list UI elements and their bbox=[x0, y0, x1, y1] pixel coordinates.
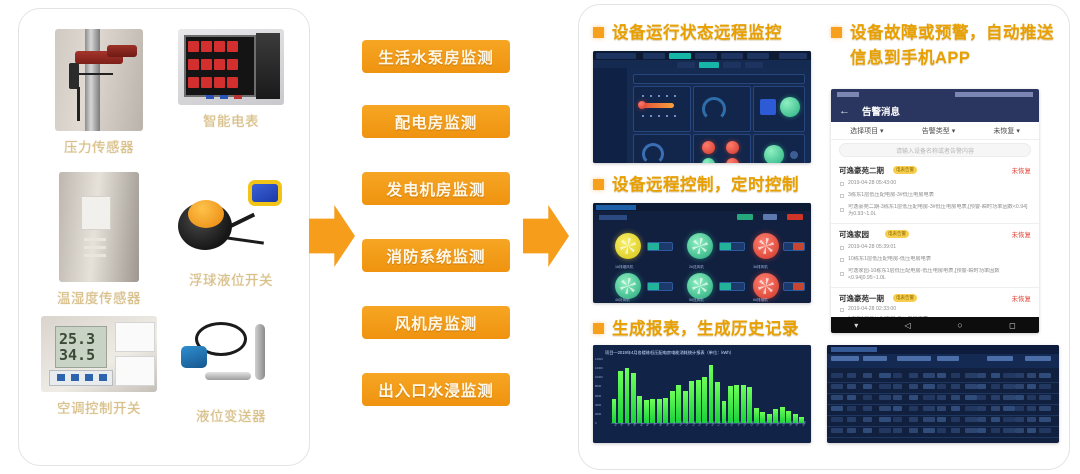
table-cell bbox=[847, 373, 856, 378]
arrow-left-icon[interactable]: ← bbox=[839, 105, 850, 117]
table-cell bbox=[863, 384, 872, 389]
chart-y-tick: 6000 bbox=[595, 394, 601, 398]
table-cell bbox=[977, 428, 986, 433]
device-label-1: 2#送风机 bbox=[689, 265, 704, 270]
table-cell bbox=[1039, 428, 1051, 433]
device-label-2: 3#排风机 bbox=[753, 265, 768, 270]
table-cell bbox=[977, 395, 986, 400]
table-cell bbox=[923, 428, 935, 433]
device-switch-2[interactable] bbox=[783, 242, 805, 251]
device-label-4: 5#送风机 bbox=[689, 298, 704, 303]
phone-nav-bar: ▾ ◁ ○ ◻ bbox=[831, 317, 1039, 333]
table-cell bbox=[863, 417, 872, 422]
dashboard-main bbox=[627, 68, 811, 163]
table-cell bbox=[951, 373, 960, 378]
table-cell bbox=[965, 384, 977, 389]
table-cell bbox=[909, 384, 918, 389]
table-cell bbox=[863, 406, 872, 411]
chart-bar bbox=[747, 387, 752, 423]
chart-title: 项目—2019年4月各楼栋低压配电房电能消耗统计报表（单位：kWh） bbox=[605, 350, 734, 356]
device-icon-1[interactable] bbox=[687, 233, 713, 259]
table-cell bbox=[965, 428, 977, 433]
features-panel: 设备运行状态远程监控 设备故障或预警，自动推送信息到手机APP 设备远程控制，定… bbox=[578, 4, 1070, 470]
device-switch-4[interactable] bbox=[719, 282, 745, 291]
table-cell bbox=[951, 384, 960, 389]
dashboard-sidebar[interactable] bbox=[593, 68, 627, 163]
scenario-tag-4[interactable]: 风机房监测 bbox=[362, 306, 510, 339]
bullet-square-icon bbox=[593, 27, 604, 38]
alarm-tag: 电表告警 bbox=[893, 166, 917, 174]
nav-tab-1-active[interactable] bbox=[669, 53, 691, 59]
table-cell bbox=[1015, 406, 1024, 411]
card-temperature bbox=[633, 134, 691, 163]
chart-plot-area bbox=[611, 359, 805, 423]
table-cell bbox=[831, 373, 843, 378]
sensor-grid: 压力传感器 智能电表 bbox=[33, 23, 297, 453]
ac-control-switch-photo: 25.3 34.5 bbox=[41, 316, 157, 392]
card-valve-status bbox=[753, 134, 805, 163]
chart-y-tick: 0 bbox=[595, 421, 597, 425]
table-cell bbox=[847, 428, 856, 433]
table-cell bbox=[991, 417, 1000, 422]
nav-tab-4[interactable] bbox=[747, 53, 769, 59]
table-cell bbox=[937, 373, 946, 378]
feature-heading-text: 设备远程控制，定时控制 bbox=[612, 173, 799, 198]
alarm-detail: 可逸豪苑二期-3栋东1层低压配电房-3#低压电房电表,[预警-瞬时功率因数<0.… bbox=[848, 204, 1031, 218]
alarm-project: 可逸豪苑一期 bbox=[839, 293, 884, 304]
temperature-humidity-sensor-photo bbox=[59, 172, 139, 282]
table-cell bbox=[879, 384, 891, 389]
table-cell bbox=[863, 373, 872, 378]
legend-fault bbox=[787, 214, 803, 220]
alarm-detail: 可逸家园-10栋东1层低压配电房-低压电房电表,[预警-瞬时功率因数<0.94]… bbox=[848, 268, 1031, 282]
table-cell bbox=[909, 406, 918, 411]
alarm-time: 2019-04-28 02:33:00 bbox=[848, 306, 1031, 313]
device-switch-0[interactable] bbox=[647, 242, 673, 251]
table-cell bbox=[991, 373, 1000, 378]
chart-bar bbox=[676, 385, 681, 423]
chart-bar bbox=[728, 386, 733, 423]
dashboard-screenshot[interactable] bbox=[593, 51, 811, 163]
table-cell bbox=[893, 384, 902, 389]
table-cell bbox=[991, 406, 1000, 411]
home-circle-icon[interactable]: ○ bbox=[957, 320, 962, 330]
alarm-project: 可逸家园 bbox=[839, 229, 869, 240]
feature-heading-report: 生成报表，生成历史记录 bbox=[593, 317, 825, 342]
chart-bar bbox=[612, 399, 617, 423]
sensor-item-smart-meter[interactable]: 智能电表 bbox=[165, 23, 297, 166]
feature-heading-alarm: 设备故障或预警，自动推送信息到手机APP bbox=[831, 21, 1059, 71]
table-cell bbox=[951, 395, 960, 400]
feature-heading-text: 生成报表，生成历史记录 bbox=[612, 317, 799, 342]
right-arrow bbox=[523, 205, 569, 267]
table-row[interactable] bbox=[827, 426, 1059, 438]
device-label-5: 6#排烟机 bbox=[753, 298, 768, 303]
chart-y-tick: 14000 bbox=[595, 357, 603, 361]
chart-bar bbox=[683, 391, 688, 423]
sensor-item-ac-switch[interactable]: 25.3 34.5 空调控制开关 bbox=[33, 310, 165, 453]
table-cell bbox=[1003, 384, 1015, 389]
recents-square-icon[interactable]: ◻ bbox=[1009, 321, 1016, 330]
search-input[interactable]: 请输入设备名称或者告警内容 bbox=[839, 143, 1031, 157]
alarm-device: 3栋东1层低压配电房-3#低压电房电表 bbox=[848, 192, 1031, 199]
table-cell bbox=[847, 406, 856, 411]
alarm-state: 未恢复 bbox=[1012, 229, 1032, 239]
chart-bar bbox=[715, 382, 720, 423]
chart-bar bbox=[663, 398, 668, 423]
table-cell bbox=[879, 373, 891, 378]
table-cell bbox=[831, 428, 843, 433]
table-cell bbox=[1003, 406, 1015, 411]
sensor-panel: 压力传感器 智能电表 bbox=[18, 8, 310, 466]
table-cell bbox=[991, 384, 1000, 389]
monitoring-scenarios-column: 生活水泵房监测 配电房监测 发电机房监测 消防系统监测 风机房监测 出入口水浸监… bbox=[362, 0, 514, 474]
device-label-0: 1#排烟风机 bbox=[615, 265, 633, 270]
card-water-level bbox=[693, 86, 751, 132]
scenario-tag-1[interactable]: 配电房监测 bbox=[362, 105, 510, 138]
bullet-square-icon bbox=[831, 27, 842, 38]
nav-user[interactable] bbox=[779, 53, 807, 59]
table-cell bbox=[893, 428, 902, 433]
nav-tab-3[interactable] bbox=[721, 53, 743, 59]
table-cell bbox=[847, 384, 856, 389]
table-cell bbox=[1027, 417, 1036, 422]
table-cell bbox=[831, 406, 843, 411]
chart-bar bbox=[631, 373, 636, 423]
device-switch-5[interactable] bbox=[783, 282, 805, 291]
phone-title: 告警消息 bbox=[862, 104, 900, 118]
feature-heading-monitor: 设备运行状态远程监控 bbox=[593, 21, 823, 46]
alarm-time: 2019-04-28 05:39:01 bbox=[848, 244, 1031, 251]
table-cell bbox=[1027, 406, 1036, 411]
table-cell bbox=[879, 428, 891, 433]
table-cell bbox=[1027, 384, 1036, 389]
table-cell bbox=[1039, 395, 1051, 400]
chart-y-tick: 4000 bbox=[595, 403, 601, 407]
card-pump-status bbox=[693, 134, 751, 163]
device-switch-1[interactable] bbox=[719, 242, 745, 251]
table-cell bbox=[977, 417, 986, 422]
table-cell bbox=[1003, 417, 1015, 422]
table-cell bbox=[1015, 417, 1024, 422]
chart-y-tick: 2000 bbox=[595, 412, 601, 416]
table-cell bbox=[1039, 373, 1051, 378]
table-cell bbox=[923, 417, 935, 422]
table-cell bbox=[831, 395, 843, 400]
table-cell bbox=[951, 406, 960, 411]
table-cell bbox=[831, 384, 843, 389]
table-cell bbox=[937, 417, 946, 422]
chart-bar bbox=[625, 368, 630, 423]
device-label-3: 4#补风机 bbox=[615, 298, 630, 303]
alarm-state: 未恢复 bbox=[1012, 293, 1032, 303]
sensor-label: 浮球液位开关 bbox=[189, 269, 273, 289]
table-cell bbox=[847, 417, 856, 422]
card-water-pressure bbox=[633, 86, 691, 132]
table-cell bbox=[1015, 373, 1024, 378]
feature-heading-text: 设备故障或预警，自动推送信息到手机APP bbox=[850, 21, 1059, 71]
filter-alarm-type[interactable]: 告警类型 ▾ bbox=[922, 126, 955, 136]
sensor-item-pressure[interactable]: 压力传感器 bbox=[33, 23, 165, 166]
history-table-screenshot[interactable] bbox=[827, 345, 1059, 443]
table-window-title bbox=[831, 347, 877, 352]
table-cell bbox=[1039, 384, 1051, 389]
table-cell bbox=[1003, 428, 1015, 433]
report-chart-screenshot[interactable]: 项目—2019年4月各楼栋低压配电房电能消耗统计报表（单位：kWh） 02000… bbox=[593, 345, 811, 443]
table-cell bbox=[977, 384, 986, 389]
device-icon-0[interactable] bbox=[615, 233, 641, 259]
table-cell bbox=[951, 417, 960, 422]
remote-control-screenshot[interactable]: 1#排烟风机 2#送风机 3#排风机 4#补风机 5#送风机 6#排烟机 bbox=[593, 203, 811, 303]
table-cell bbox=[937, 428, 946, 433]
filter-status[interactable]: 未恢复 ▾ bbox=[993, 126, 1019, 136]
chart-bar bbox=[734, 385, 739, 423]
feature-heading-text: 设备运行状态远程监控 bbox=[612, 21, 782, 46]
table-cell bbox=[977, 406, 986, 411]
alarm-state: 未恢复 bbox=[1012, 165, 1032, 175]
sensor-label: 温湿度传感器 bbox=[57, 287, 141, 307]
chart-bar bbox=[644, 400, 649, 423]
chart-bar bbox=[670, 391, 675, 423]
card-power bbox=[753, 86, 805, 132]
table-cell bbox=[965, 417, 977, 422]
table-cell bbox=[937, 395, 946, 400]
level-transmitter-photo bbox=[175, 316, 287, 400]
phone-app-bar: ← 告警消息 bbox=[831, 100, 1039, 122]
arrow-right-icon bbox=[309, 205, 355, 267]
table-cell bbox=[1003, 395, 1015, 400]
left-arrow bbox=[309, 205, 355, 267]
scenario-tag-3[interactable]: 消防系统监测 bbox=[362, 239, 510, 272]
sensor-item-float-switch[interactable]: 浮球液位开关 bbox=[165, 166, 297, 309]
table-cell bbox=[937, 406, 946, 411]
table-cell bbox=[909, 373, 918, 378]
alarm-time: 2019-04-28 05:43:00 bbox=[848, 180, 1031, 187]
alarm-tag: 电表告警 bbox=[893, 294, 917, 302]
table-cell bbox=[893, 417, 902, 422]
sensor-item-temp-humidity[interactable]: 温湿度传感器 bbox=[33, 166, 165, 309]
table-cell bbox=[1015, 395, 1024, 400]
table-cell bbox=[1027, 395, 1036, 400]
bullet-square-icon bbox=[593, 179, 604, 190]
filter-project[interactable]: 选择项目 ▾ bbox=[850, 126, 883, 136]
chart-y-tick: 10000 bbox=[595, 375, 603, 379]
table-cell bbox=[909, 395, 918, 400]
table-cell bbox=[1027, 373, 1036, 378]
sensor-label: 液位变送器 bbox=[196, 405, 266, 425]
table-cell bbox=[1039, 417, 1051, 422]
feature-heading-control: 设备远程控制，定时控制 bbox=[593, 173, 825, 198]
device-icon-5[interactable] bbox=[753, 273, 779, 299]
table-cell bbox=[977, 373, 986, 378]
table-cell bbox=[847, 395, 856, 400]
table-cell bbox=[965, 395, 977, 400]
table-cell bbox=[991, 395, 1000, 400]
legend-running bbox=[737, 214, 753, 220]
scenario-tag-0[interactable]: 生活水泵房监测 bbox=[362, 40, 510, 73]
phone-filter-bar: 选择项目 ▾ 告警类型 ▾ 未恢复 ▾ bbox=[831, 122, 1039, 140]
table-cell bbox=[1039, 406, 1051, 411]
nav-tab-0[interactable] bbox=[643, 53, 665, 59]
pressure-sensor-photo bbox=[55, 29, 143, 131]
chart-bar bbox=[702, 377, 707, 423]
device-icon-4[interactable] bbox=[687, 273, 713, 299]
chart-bar bbox=[689, 381, 694, 424]
sensor-item-level-transmitter[interactable]: 液位变送器 bbox=[165, 310, 297, 453]
table-cell bbox=[951, 428, 960, 433]
table-cell bbox=[923, 384, 935, 389]
table-cell bbox=[923, 406, 935, 411]
table-cell bbox=[965, 373, 977, 378]
chart-bar bbox=[618, 371, 623, 423]
table-cell bbox=[863, 395, 872, 400]
device-switch-3[interactable] bbox=[647, 282, 673, 291]
alarm-project: 可逸豪苑二期 bbox=[839, 165, 884, 176]
table-cell bbox=[923, 395, 935, 400]
chart-bar bbox=[741, 385, 746, 423]
chart-bar bbox=[709, 365, 714, 423]
device-icon-3[interactable] bbox=[615, 273, 641, 299]
alarm-device: 10栋东1层低压配电房-低压电房电表 bbox=[848, 256, 1031, 263]
float-level-switch-photo bbox=[172, 172, 290, 264]
chart-bar bbox=[650, 399, 655, 423]
arrow-right-icon bbox=[523, 205, 569, 267]
chart-bar bbox=[696, 380, 701, 423]
table-cell bbox=[1027, 428, 1036, 433]
table-cell bbox=[909, 428, 918, 433]
chart-bar bbox=[657, 399, 662, 423]
sensor-label: 空调控制开关 bbox=[57, 397, 141, 417]
chart-y-tick: 12000 bbox=[595, 366, 603, 370]
table-cell bbox=[893, 373, 902, 378]
table-cell bbox=[879, 395, 891, 400]
nav-logo bbox=[596, 53, 636, 59]
table-cell bbox=[879, 417, 891, 422]
table-cell bbox=[909, 417, 918, 422]
table-cell bbox=[965, 406, 977, 411]
sensor-label: 压力传感器 bbox=[64, 136, 134, 156]
nav-tab-2[interactable] bbox=[695, 53, 717, 59]
mobile-app-screenshot[interactable]: ← 告警消息 选择项目 ▾ 告警类型 ▾ 未恢复 ▾ 请输入设备名称或者告警内容… bbox=[831, 89, 1039, 333]
table-cell bbox=[879, 406, 891, 411]
bullet-square-icon bbox=[593, 323, 604, 334]
table-cell bbox=[923, 373, 935, 378]
legend-stopped bbox=[763, 214, 777, 220]
chart-y-tick: 8000 bbox=[595, 384, 601, 388]
sensor-label: 智能电表 bbox=[203, 110, 259, 130]
device-icon-2[interactable] bbox=[753, 233, 779, 259]
table-cell bbox=[831, 417, 843, 422]
table-cell bbox=[937, 384, 946, 389]
table-cell bbox=[1015, 428, 1024, 433]
smart-meter-photo bbox=[178, 29, 284, 105]
table-cell bbox=[893, 406, 902, 411]
chevron-down-icon[interactable]: ▾ bbox=[854, 321, 858, 330]
scenario-tag-2[interactable]: 发电机房监测 bbox=[362, 172, 510, 205]
table-cell bbox=[893, 395, 902, 400]
infographic-canvas: 压力传感器 智能电表 bbox=[0, 0, 1080, 474]
table-cell bbox=[991, 428, 1000, 433]
table-cell bbox=[863, 428, 872, 433]
alarm-tag: 电表告警 bbox=[885, 230, 909, 238]
chart-bar bbox=[637, 396, 642, 423]
table-cell bbox=[1015, 384, 1024, 389]
scenario-tag-5[interactable]: 出入口水浸监测 bbox=[362, 373, 510, 406]
back-triangle-icon[interactable]: ◁ bbox=[905, 321, 911, 330]
phone-status-bar bbox=[831, 89, 1039, 100]
table-cell bbox=[1003, 373, 1015, 378]
